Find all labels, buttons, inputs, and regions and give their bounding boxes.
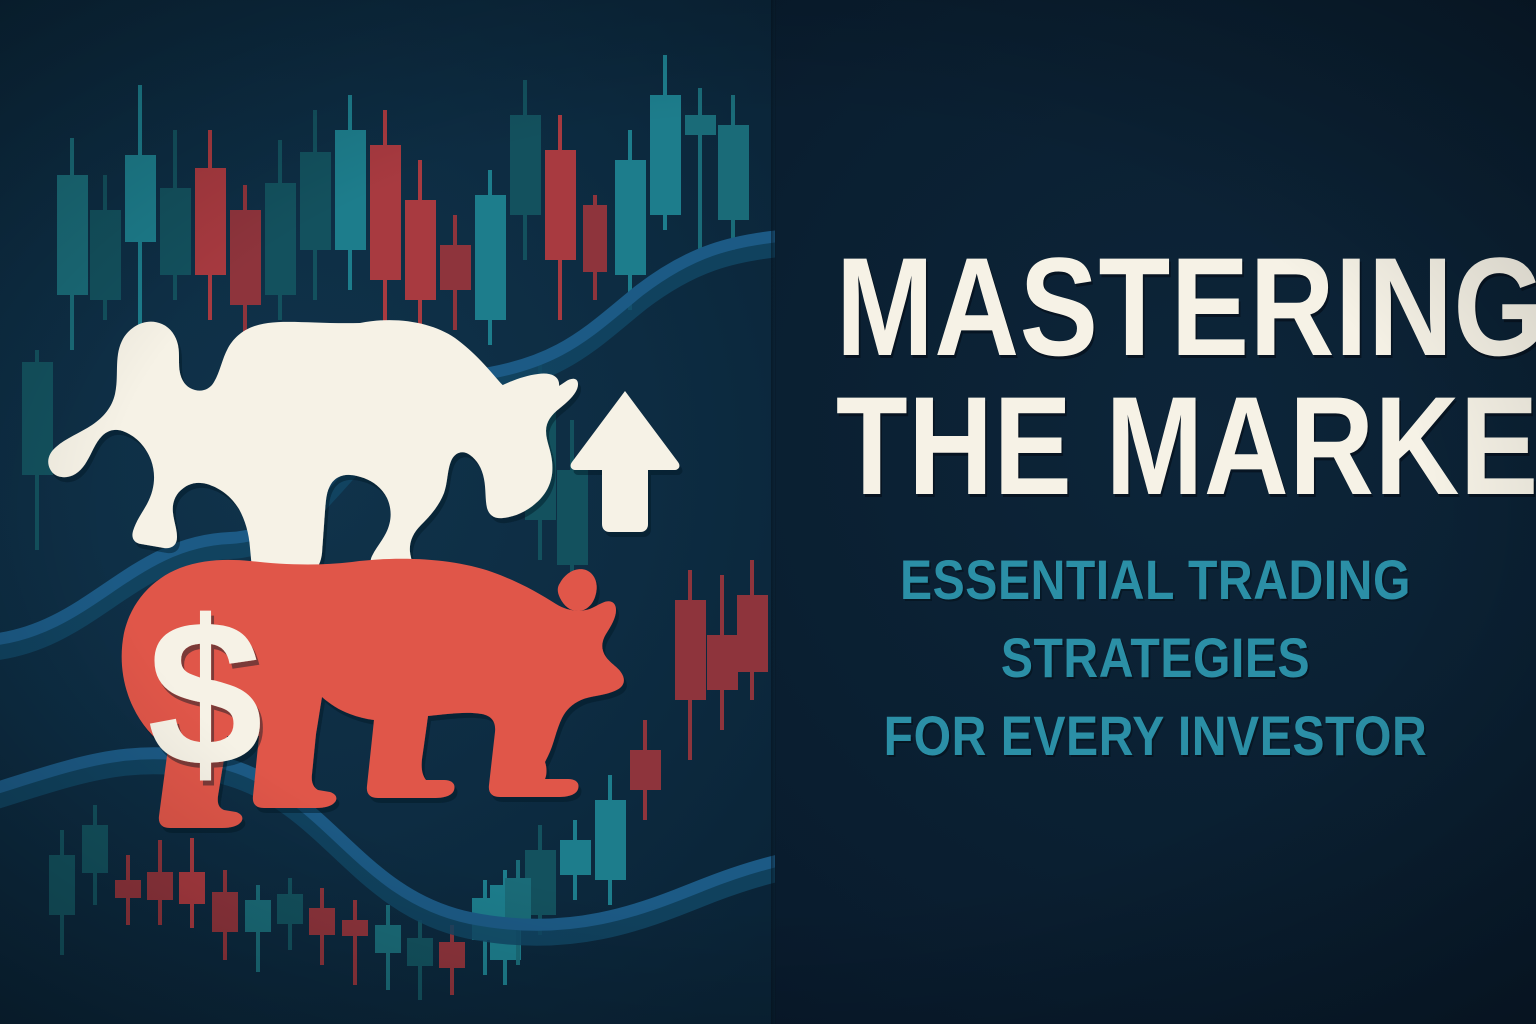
subtitle-line-2: STRATEGIES bbox=[828, 630, 1482, 686]
poster-canvas: $ MASTERING THE MARKETS ESSENTIAL TRADIN… bbox=[0, 0, 1536, 1024]
svg-text:$: $ bbox=[147, 578, 263, 810]
up-arrow-icon bbox=[571, 391, 680, 532]
title-line-2: THE MARKETS bbox=[836, 376, 1475, 516]
text-content-block: MASTERING THE MARKETS ESSENTIAL TRADING … bbox=[775, 0, 1536, 1024]
dollar-sign-icon: $ bbox=[147, 578, 263, 810]
title-line-1: MASTERING bbox=[836, 237, 1475, 377]
subtitle-line-3: FOR EVERY INVESTOR bbox=[828, 708, 1482, 764]
subtitle-line-1: ESSENTIAL TRADING bbox=[828, 552, 1482, 608]
